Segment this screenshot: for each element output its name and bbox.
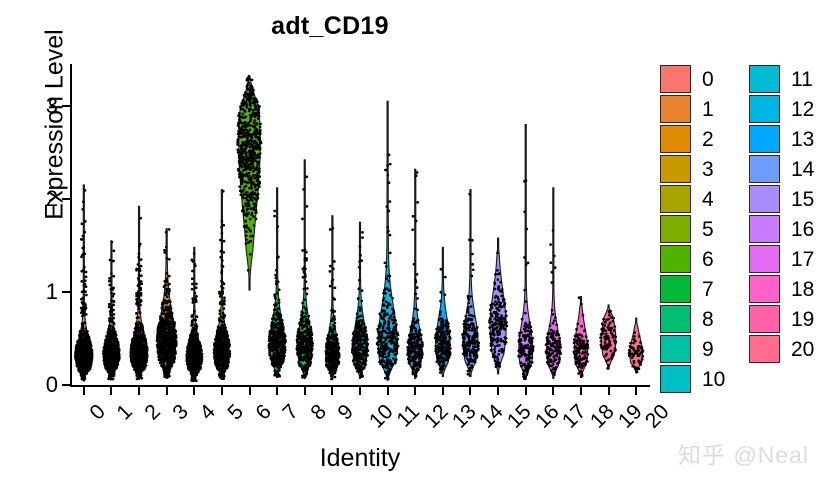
legend-item-17[interactable]: 17 [749,244,814,274]
x-tick-mark [221,387,223,395]
violin-18[interactable] [572,296,589,377]
violin-5[interactable] [213,190,232,380]
legend-color-swatch [660,65,691,93]
x-tick-mark [304,387,306,395]
legend-item-19[interactable]: 19 [749,304,814,334]
legend-item-label: 12 [791,99,814,120]
x-axis-title: Identity [70,444,650,473]
legend-item-14[interactable]: 14 [749,154,814,184]
legend-column-left: 012345678910 [660,64,725,394]
legend-item-label: 14 [791,159,814,180]
legend-color-swatch [749,305,780,333]
legend-item-label: 17 [791,249,814,270]
legend-item-5[interactable]: 5 [660,214,725,244]
legend-color-swatch [749,185,780,213]
violin-13[interactable] [434,247,452,376]
plot-panel [70,64,650,385]
legend-item-2[interactable]: 2 [660,124,725,154]
violin-2[interactable] [129,206,148,380]
jitter-points [236,75,262,272]
x-tick-mark [469,387,471,395]
violin-9[interactable] [325,216,341,381]
violin-0[interactable] [74,185,93,382]
legend-item-label: 19 [791,309,814,330]
violin-series [70,64,650,415]
y-tick-label: 3 [0,91,58,121]
page-title: adt_CD19 [0,12,660,41]
legend-item-label: 4 [702,189,714,210]
x-tick-mark [608,387,610,395]
legend-item-4[interactable]: 4 [660,184,725,214]
y-tick-label: 2 [0,184,58,214]
x-tick-mark [83,387,85,395]
legend-item-8[interactable]: 8 [660,304,725,334]
legend-color-swatch [749,95,780,123]
violin-12[interactable] [406,169,424,378]
legend-column-right: 11121314151617181920 [749,64,814,364]
legend-color-swatch [749,275,780,303]
legend-item-12[interactable]: 12 [749,94,814,124]
legend-color-swatch [749,125,780,153]
violin-1[interactable] [102,241,121,381]
legend-item-label: 10 [702,369,725,390]
legend-item-18[interactable]: 18 [749,274,814,304]
legend-color-swatch [660,365,691,393]
legend-color-swatch [660,185,691,213]
legend-color-swatch [749,155,780,183]
legend-item-16[interactable]: 16 [749,214,814,244]
x-tick-mark [552,387,554,395]
x-tick-mark [635,387,637,395]
legend-item-label: 15 [791,189,814,210]
legend-item-13[interactable]: 13 [749,124,814,154]
x-tick-mark [580,387,582,395]
legend-color-swatch [660,125,691,153]
x-tick-mark [525,387,527,395]
legend-color-swatch [749,215,780,243]
violin-15[interactable] [488,238,508,374]
legend-color-swatch [660,155,691,183]
legend-item-label: 13 [791,129,814,150]
legend-item-label: 20 [791,339,814,360]
x-tick-mark [193,387,195,395]
violin-14[interactable] [461,190,480,377]
x-tick-mark [331,387,333,395]
legend-item-label: 16 [791,219,814,240]
x-tick-mark [414,387,416,395]
violin-10[interactable] [351,222,369,378]
legend-color-swatch [660,275,691,303]
legend-item-label: 9 [702,339,714,360]
legend-item-label: 2 [702,129,714,150]
legend-color-swatch [660,305,691,333]
violin-8[interactable] [296,160,315,379]
legend-color-swatch [660,215,691,243]
legend-item-label: 11 [791,69,813,90]
violin-20[interactable] [628,318,645,373]
violin-3[interactable] [156,228,178,378]
legend-item-10[interactable]: 10 [660,364,725,394]
y-axis-title: Expression Level [41,0,70,290]
legend-item-1[interactable]: 1 [660,94,725,124]
x-tick-mark [110,387,112,395]
violin-6[interactable] [236,75,262,290]
x-tick-mark [138,387,140,395]
watermark: 知乎 @Neal [678,436,809,470]
legend-item-20[interactable]: 20 [749,334,814,364]
legend-item-label: 8 [702,309,714,330]
legend-color-swatch [749,65,780,93]
x-tick-mark [249,387,251,395]
legend-item-label: 3 [702,159,714,180]
x-tick-mark [442,387,444,395]
x-tick-mark [166,387,168,395]
legend-item-6[interactable]: 6 [660,244,725,274]
violin-11[interactable] [376,101,400,380]
legend-item-label: 5 [702,219,714,240]
legend-color-swatch [660,245,691,273]
y-tick-label: 0 [0,370,58,400]
violin-17[interactable] [545,188,562,379]
legend-item-0[interactable]: 0 [660,64,725,94]
x-tick-mark [276,387,278,395]
legend-item-11[interactable]: 11 [749,64,814,94]
legend-color-swatch [660,335,691,363]
violin-7[interactable] [267,188,286,378]
violin-4[interactable] [185,247,203,382]
legend-item-label: 18 [791,279,814,300]
legend-item-label: 7 [702,279,714,300]
legend-item-label: 6 [702,249,714,270]
violin-19[interactable] [599,305,617,370]
legend-color-swatch [749,335,780,363]
legend-color-swatch [749,245,780,273]
y-tick-label: 1 [0,277,58,307]
legend-item-label: 0 [702,69,714,90]
legend-item-label: 1 [702,99,714,120]
legend-item-3[interactable]: 3 [660,154,725,184]
x-tick-mark [359,387,361,395]
violin-16[interactable] [517,124,534,380]
legend-item-9[interactable]: 9 [660,334,725,364]
x-tick-mark [497,387,499,395]
violin-plot-figure: adt_CD19 Expression Level 0123 012345678… [0,0,831,482]
x-tick-mark [387,387,389,395]
legend-item-7[interactable]: 7 [660,274,725,304]
legend-item-15[interactable]: 15 [749,184,814,214]
legend-color-swatch [660,95,691,123]
